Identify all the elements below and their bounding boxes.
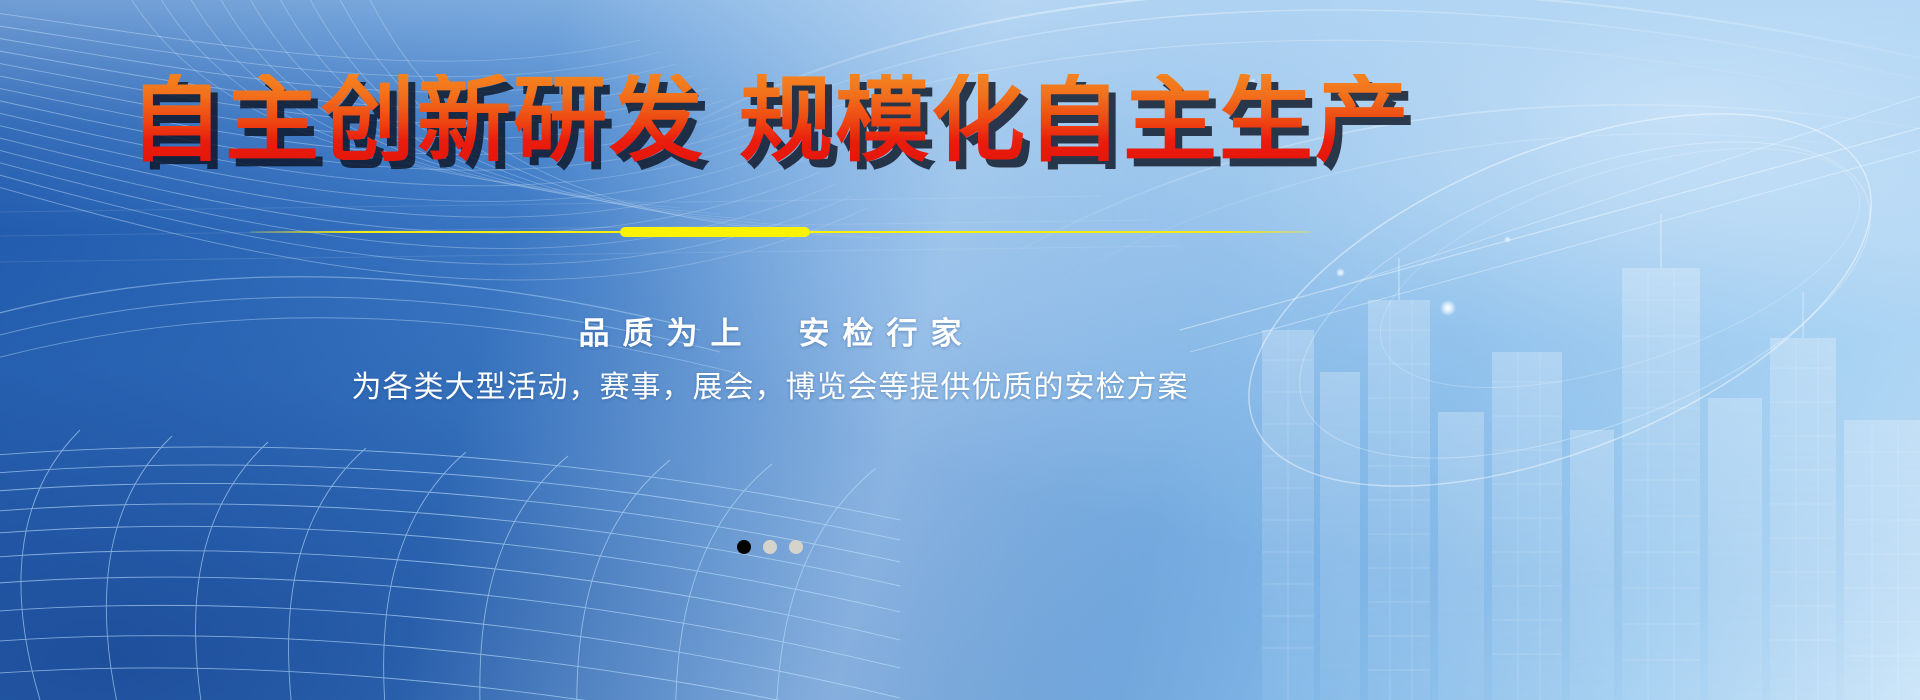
headline-part-2: 规模化自主生产 [739, 66, 1411, 175]
headline-part-1: 自主创新研发 [129, 66, 705, 175]
banner-divider [250, 225, 1310, 239]
carousel-dot-2[interactable] [763, 540, 777, 554]
carousel-pagination[interactable] [0, 540, 1540, 554]
banner-headline: 自主创新研发规模化自主生产 [0, 74, 1540, 168]
banner-subheadline: 品质为上 安检行家 [0, 308, 1540, 353]
hero-banner: 自主创新研发规模化自主生产 品质为上 安检行家 为各类大型活动，赛事，展会，博览… [0, 0, 1920, 700]
banner-content: 自主创新研发规模化自主生产 品质为上 安检行家 为各类大型活动，赛事，展会，博览… [0, 0, 1920, 700]
carousel-dot-1[interactable] [737, 540, 751, 554]
banner-description: 为各类大型活动，赛事，展会，博览会等提供优质的安检方案 [0, 362, 1540, 406]
carousel-dot-3[interactable] [789, 540, 803, 554]
divider-accent-bar [620, 227, 810, 237]
